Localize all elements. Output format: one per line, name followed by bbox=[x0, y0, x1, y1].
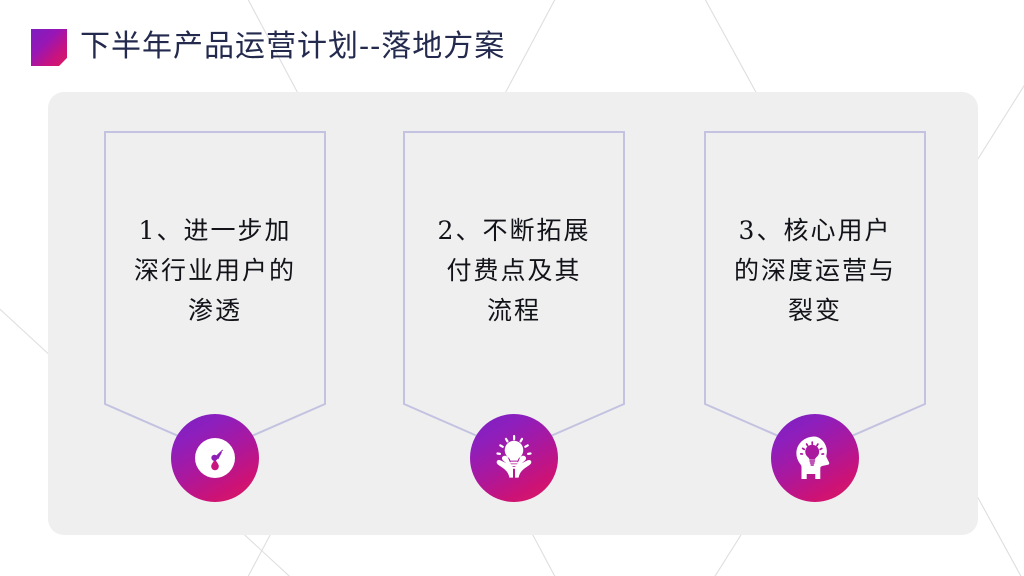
card-2-line-3: 流程 bbox=[403, 291, 625, 331]
hands-lightbulb-icon bbox=[486, 430, 542, 486]
card-3-line-3: 裂变 bbox=[704, 291, 926, 331]
speedometer-icon bbox=[187, 430, 243, 486]
card-2-line-2: 付费点及其 bbox=[403, 251, 625, 291]
card-3-line-1: 3、核心用户 bbox=[704, 211, 926, 251]
card-2-icon-badge[interactable] bbox=[470, 414, 558, 502]
slide-root: 图行天下 下半年产品运营计划--落地方案 1、进一步加 深行业用户的 渗透 2、… bbox=[0, 0, 1024, 576]
card-3-text: 3、核心用户 的深度运营与 裂变 bbox=[704, 211, 926, 331]
card-3-line-2: 的深度运营与 bbox=[704, 251, 926, 291]
card-1-line-1: 1、进一步加 bbox=[104, 211, 326, 251]
head-lightbulb-icon bbox=[787, 430, 843, 486]
card-2-text: 2、不断拓展 付费点及其 流程 bbox=[403, 211, 625, 331]
page-title: 下半年产品运营计划--落地方案 bbox=[80, 28, 505, 66]
card-1-text: 1、进一步加 深行业用户的 渗透 bbox=[104, 211, 326, 331]
card-1-icon-badge[interactable] bbox=[171, 414, 259, 502]
card-2-line-1: 2、不断拓展 bbox=[403, 211, 625, 251]
card-3-icon-badge[interactable] bbox=[771, 414, 859, 502]
slide-header: 下半年产品运营计划--落地方案 bbox=[0, 0, 1024, 80]
card-1-line-3: 渗透 bbox=[104, 291, 326, 331]
card-1-line-2: 深行业用户的 bbox=[104, 251, 326, 291]
gradient-square-marker bbox=[31, 29, 67, 66]
